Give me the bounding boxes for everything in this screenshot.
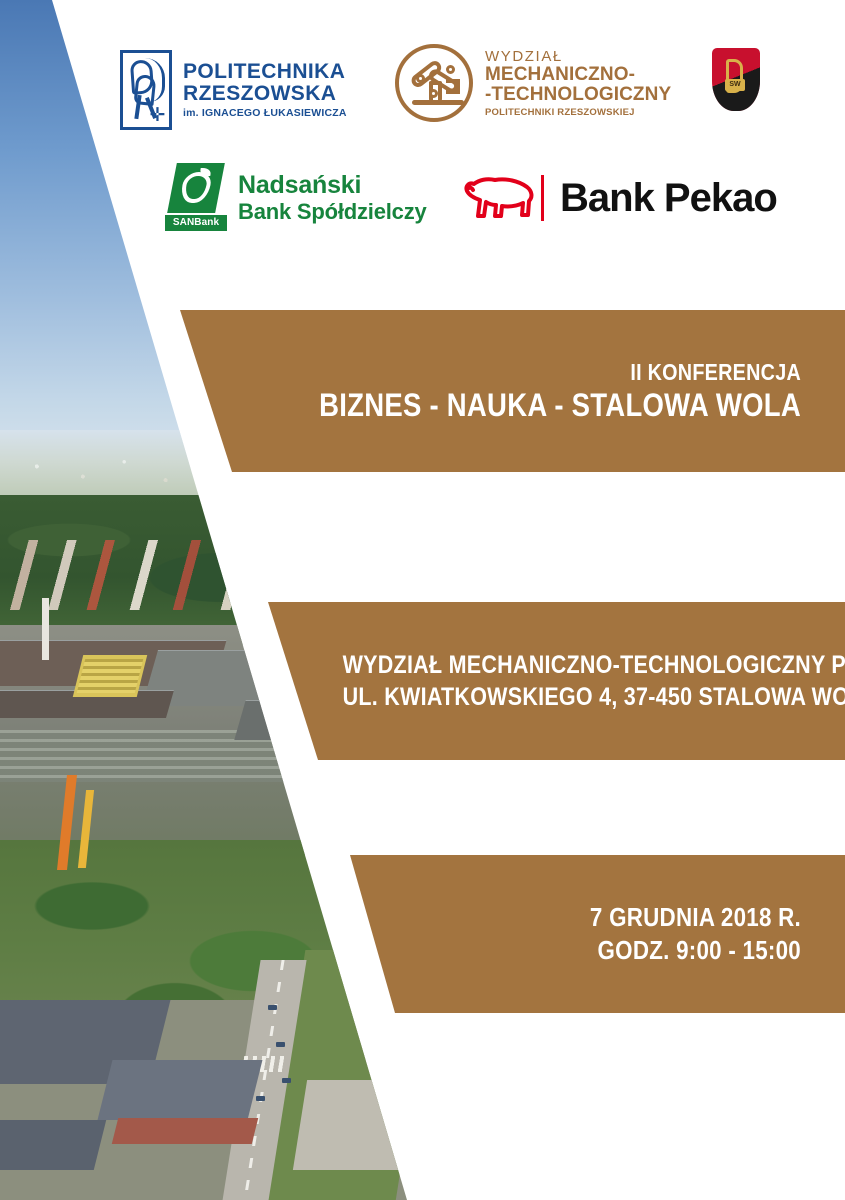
sponsor-logo-row-top: ✛ POLITECHNIKA RZESZOWSKA im. IGNACEGO Ł… bbox=[120, 42, 820, 147]
heraldic-shield-icon: SW bbox=[712, 48, 760, 111]
pekao-wordmark: Bank Pekao bbox=[560, 176, 777, 220]
prz-monogram-icon: ✛ bbox=[120, 50, 172, 130]
photo-car bbox=[282, 1078, 291, 1083]
photo-car bbox=[276, 1042, 285, 1047]
nsb-line-2: Bank Spółdzielczy bbox=[238, 199, 427, 224]
event-date: 7 GRUDNIA 2018 R. bbox=[413, 901, 801, 934]
event-time: GODZ. 9:00 - 15:00 bbox=[413, 934, 801, 967]
wmt-line-1: WYDZIAŁ bbox=[485, 48, 671, 65]
photo-building-roof bbox=[0, 1120, 106, 1170]
logo-politechnika-rzeszowska: ✛ POLITECHNIKA RZESZOWSKA im. IGNACEGO Ł… bbox=[120, 50, 347, 130]
wmt-line-3: -TECHNOLOGICZNY bbox=[485, 85, 671, 105]
robot-arm-icon bbox=[395, 44, 473, 122]
shield-badge-text: SW bbox=[725, 79, 745, 91]
maltese-cross-icon: ✛ bbox=[149, 107, 166, 124]
conference-poster: ✛ POLITECHNIKA RZESZOWSKA im. IGNACEGO Ł… bbox=[0, 0, 845, 1200]
wmt-line-4: POLITECHNIKI RZESZOWSKIEJ bbox=[485, 107, 671, 118]
logo-nadsanski-bank-spoldzielczy: SANBank Nadsański Bank Spółdzielczy bbox=[165, 163, 427, 231]
photo-pipe-racks bbox=[0, 730, 327, 782]
prz-line-3: im. IGNACEGO ŁUKASIEWICZA bbox=[183, 107, 347, 119]
sponsor-logo-row-bottom: SANBank Nadsański Bank Spółdzielczy Bank… bbox=[165, 163, 805, 245]
photo-town-rooftops bbox=[0, 540, 460, 610]
prz-line-1: POLITECHNIKA bbox=[183, 61, 347, 83]
photo-chimney bbox=[42, 598, 49, 660]
logo-wydzial-mechaniczno-technologiczny: WYDZIAŁ MECHANICZNO- -TECHNOLOGICZNY POL… bbox=[395, 44, 671, 122]
banner-venue: WYDZIAŁ MECHANICZNO-TECHNOLOGICZNY PRZ U… bbox=[268, 602, 845, 760]
prz-line-2: RZESZOWSKA bbox=[183, 83, 347, 105]
photo-parking-lot bbox=[293, 1080, 417, 1170]
photo-yellow-building bbox=[73, 655, 147, 697]
logo-heraldic-shield: SW bbox=[712, 48, 760, 111]
apple-parallelogram-icon: SANBank bbox=[165, 163, 227, 231]
wmt-line-2: MECHANICZNO- bbox=[485, 65, 671, 85]
conference-title: BIZNES - NAUKA - STALOWA WOLA bbox=[267, 386, 801, 424]
logo-bank-pekao: Bank Pekao bbox=[461, 175, 777, 221]
photo-car bbox=[268, 1005, 277, 1010]
pekao-divider bbox=[541, 175, 544, 221]
sanbank-label: SANBank bbox=[165, 215, 227, 231]
photo-car bbox=[256, 1096, 265, 1101]
conference-subtitle: II KONFERENCJA bbox=[267, 358, 801, 386]
venue-faculty: WYDZIAŁ MECHANICZNO-TECHNOLOGICZNY PRZ bbox=[343, 649, 801, 681]
banner-datetime: 7 GRUDNIA 2018 R. GODZ. 9:00 - 15:00 bbox=[350, 855, 845, 1013]
venue-address: UL. KWIATKOWSKIEGO 4, 37-450 STALOWA WOL… bbox=[343, 681, 801, 713]
bison-icon bbox=[461, 175, 535, 221]
nsb-line-1: Nadsański bbox=[238, 171, 427, 199]
banner-conference-title: II KONFERENCJA BIZNES - NAUKA - STALOWA … bbox=[180, 310, 845, 472]
photo-brick-facade bbox=[112, 1118, 258, 1144]
photo-building-roof bbox=[98, 1060, 263, 1120]
